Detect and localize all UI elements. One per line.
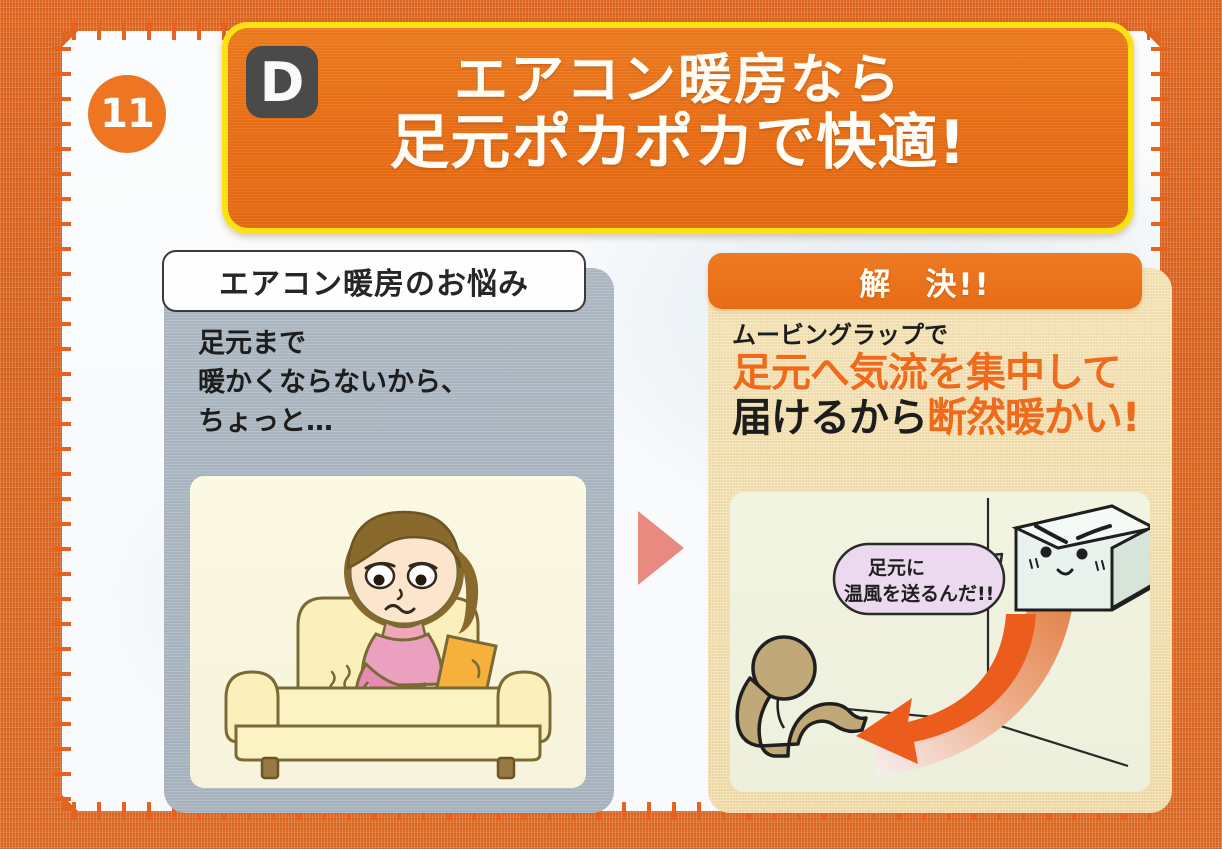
problem-panel: エアコン暖房のお悩み 足元まで 暖かくならないから、 ちょっと… [164,268,614,813]
solution-body-line-3-orange: 断然暖かい! [927,395,1139,441]
solution-illustration: 足元に 温風を送るんだ!! [730,492,1150,792]
poster-root: 11 D エアコン暖房なら 足元ポカポカで快適! エアコン暖房のお悩み 足元まで… [0,0,1222,849]
card-corner-notch-top-left [62,31,78,47]
solution-panel-body: ムービングラップで 足元へ気流を集中して 届けるから断然暖かい! [732,320,1162,440]
title-banner: D エアコン暖房なら 足元ポカポカで快適! [222,22,1134,234]
card-corner-notch-bottom-left [62,795,78,811]
solution-panel: 解 決!! ムービングラップで 足元へ気流を集中して 届けるから断然暖かい! [708,268,1172,813]
solution-panel-header: 解 決!! [708,253,1142,309]
white-card: 11 D エアコン暖房なら 足元ポカポカで快適! エアコン暖房のお悩み 足元まで… [62,31,1160,811]
solution-body-line-1: ムービングラップで [732,320,1162,351]
problem-body-line-2: 暖かくならないから、 [198,363,596,402]
speech-bubble-line-2: 温風を送るんだ!! [844,582,994,605]
page-title: エアコン暖房なら 足元ポカポカで快適! [228,50,1128,178]
card-corner-notch-top-right [1144,31,1160,47]
problem-body-line-3: ちょっと… [198,402,596,441]
speech-bubble-group: 足元に 温風を送るんだ!! [834,544,1004,614]
title-line-1: エアコン暖房なら [228,50,1128,110]
problem-body-line-1: 足元まで [198,324,596,363]
card-stitch-ticks-left [53,41,71,801]
aircon-airflow-drawing: 足元に 温風を送るんだ!! [730,492,1150,792]
solution-body-line-3: 届けるから断然暖かい! [732,396,1162,441]
problem-to-solution-arrow-icon [638,511,684,585]
title-line-2: 足元ポカポカで快適! [228,110,1128,177]
problem-illustration [190,476,586,788]
problem-panel-header: エアコン暖房のお悩み [162,250,586,312]
page-number-badge: 11 [88,75,166,153]
woman-on-sofa-drawing [190,476,586,788]
solution-body-line-2: 足元へ気流を集中して [732,351,1162,396]
speech-bubble-line-1: 足元に [868,557,925,579]
problem-panel-body: 足元まで 暖かくならないから、 ちょっと… [198,324,596,441]
solution-body-line-3-black: 届けるから [732,395,927,441]
